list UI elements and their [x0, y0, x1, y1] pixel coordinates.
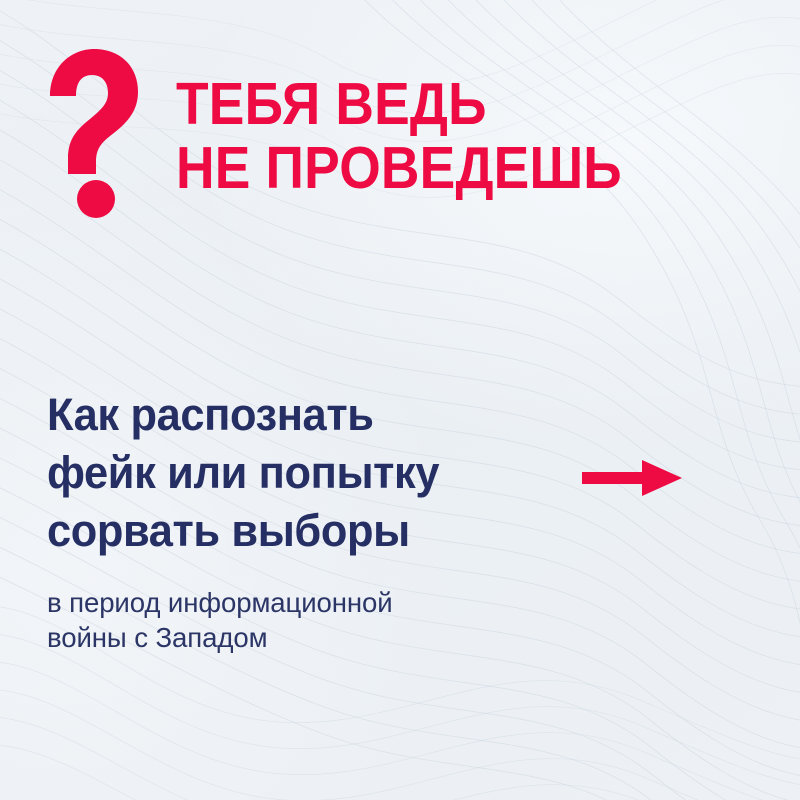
question-mark-icon	[44, 48, 140, 220]
headline-line-1: ТЕБЯ ВЕДЬ	[176, 72, 719, 136]
headline: ТЕБЯ ВЕДЬ НЕ ПРОВЕДЕШЬ	[176, 72, 776, 200]
subheading-line-1: Как распознать	[47, 386, 549, 444]
caption-line-1: в период информационной	[47, 585, 559, 620]
subheading-line-2: фейк или попытку	[47, 444, 549, 502]
poster-canvas: ТЕБЯ ВЕДЬ НЕ ПРОВЕДЕШЬ Как распознать фе…	[0, 0, 800, 800]
headline-line-2: НЕ ПРОВЕДЕШЬ	[176, 136, 719, 200]
caption-line-2: войны с Западом	[47, 620, 559, 655]
subheading: Как распознать фейк или попытку сорвать …	[47, 386, 567, 560]
subheading-line-3: сорвать выборы	[47, 502, 549, 560]
caption: в период информационной войны с Западом	[47, 585, 567, 655]
arrow-right-icon	[580, 458, 684, 498]
